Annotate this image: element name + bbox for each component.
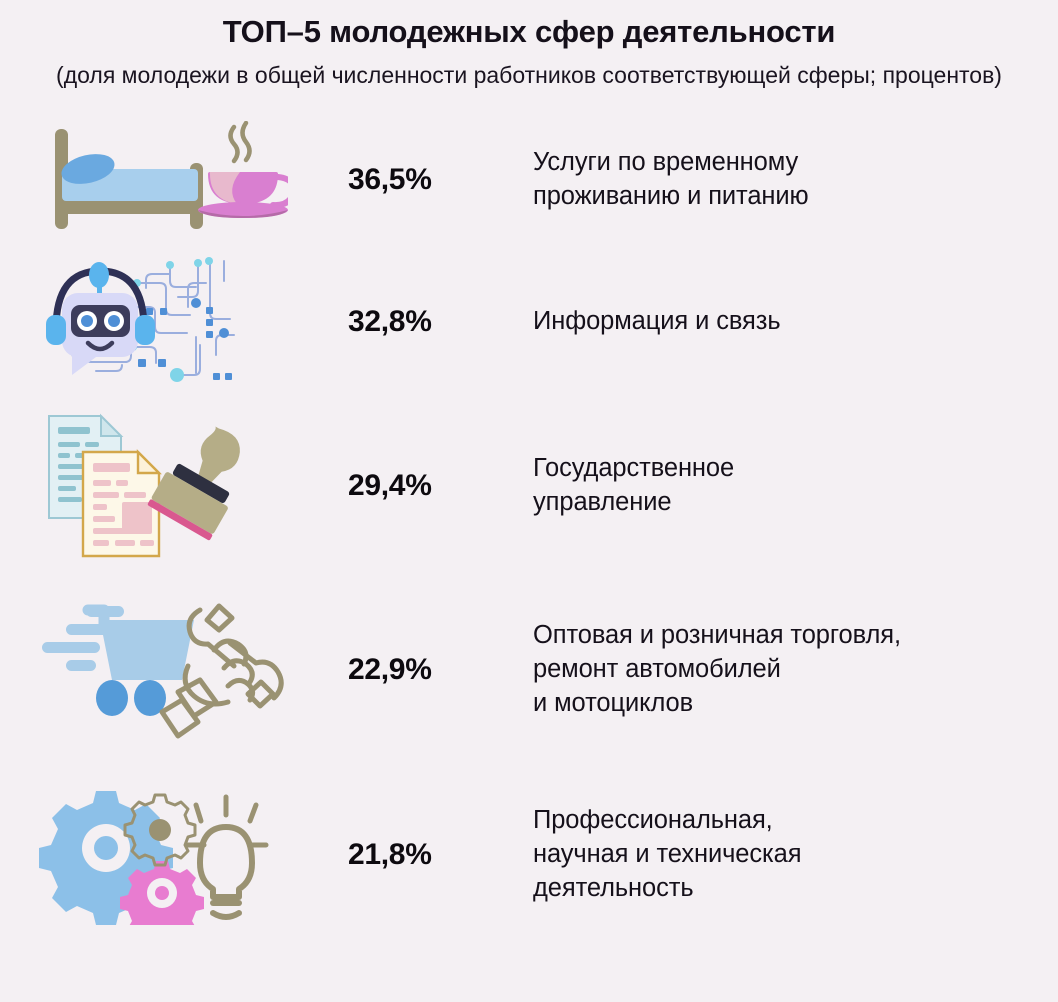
icon-cell (18, 594, 348, 746)
sector-label: Информация и связь (533, 305, 1058, 339)
list-item: 22,9% Оптовая и розничная торговля, ремо… (0, 575, 1058, 765)
icon-cell (18, 121, 348, 239)
page-title: ТОП–5 молодежных сфер деятельности (0, 14, 1058, 51)
ranking-list: 36,5% Услуги по временному проживанию и … (0, 112, 1058, 945)
sector-label: Услуги по временному проживанию и питани… (533, 146, 1058, 214)
sector-label: Профессиональная, научная и техническая … (533, 804, 1058, 906)
list-item: 21,8% Профессиональная, научная и технич… (0, 765, 1058, 945)
percentage-value: 32,8% (348, 305, 533, 339)
list-item: 29,4% Государственное управление (0, 397, 1058, 575)
gears-lightbulb-icon (38, 785, 288, 925)
percentage-value: 29,4% (348, 469, 533, 503)
icon-cell (18, 785, 348, 925)
percentage-value: 21,8% (348, 838, 533, 872)
documents-stamp-icon (38, 410, 288, 562)
chatbot-circuit-icon (38, 255, 288, 390)
icon-cell (18, 410, 348, 562)
sector-label: Оптовая и розничная торговля, ремонт авт… (533, 619, 1058, 721)
sector-label: Государственное управление (533, 452, 1058, 520)
page-subtitle: (доля молодежи в общей численности работ… (0, 60, 1058, 91)
list-item: 36,5% Услуги по временному проживанию и … (0, 112, 1058, 247)
list-item: 32,8% Информация и связь (0, 247, 1058, 397)
bed-coffee-icon (38, 121, 288, 239)
infographic-page: ТОП–5 молодежных сфер деятельности (доля… (0, 0, 1058, 1002)
icon-cell (18, 255, 348, 390)
shopping-cart-wrench-icon (38, 594, 288, 746)
header: ТОП–5 молодежных сфер деятельности (доля… (0, 0, 1058, 90)
percentage-value: 36,5% (348, 163, 533, 197)
percentage-value: 22,9% (348, 653, 533, 687)
